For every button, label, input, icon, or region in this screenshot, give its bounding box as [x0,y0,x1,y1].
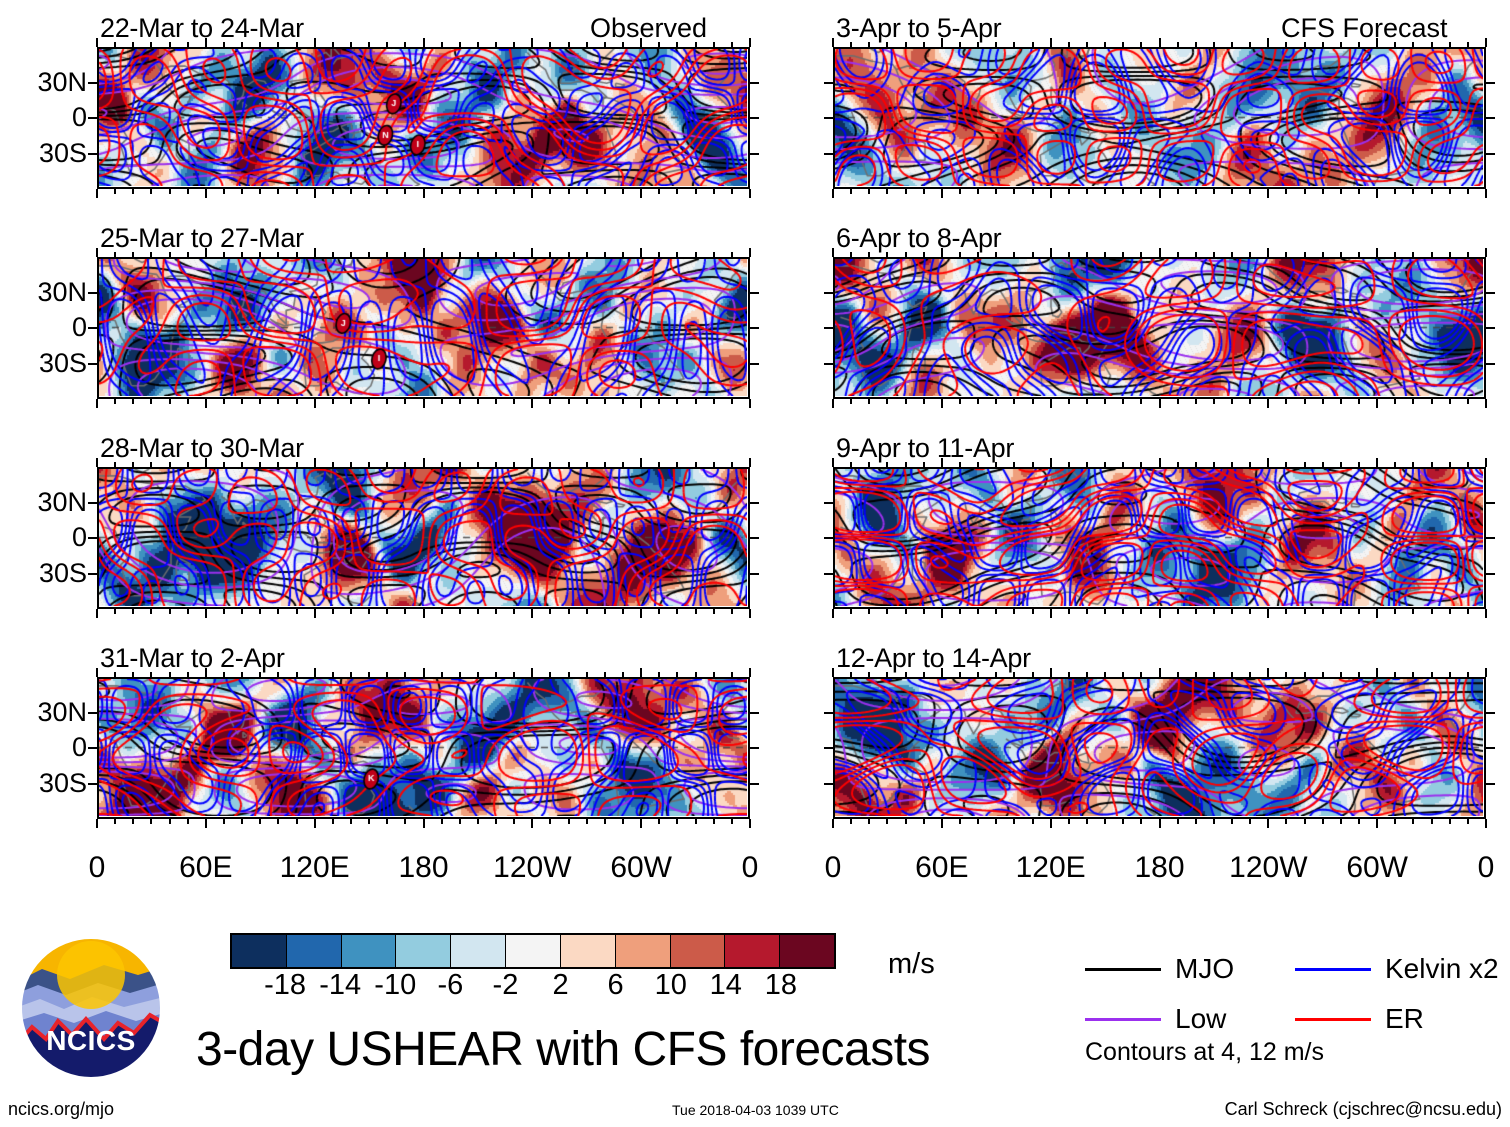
axis-tick [850,819,852,824]
axis-tick [169,819,171,824]
axis-tick [404,462,406,467]
axis-tick [350,399,352,404]
axis-tick [640,819,642,828]
axis-tick [1249,462,1251,467]
axis-tick [977,462,979,467]
axis-tick [1485,668,1487,677]
axis-tick [832,668,834,677]
axis-tick [1140,189,1142,194]
x-axis-label-right-2: 120E [991,853,1111,883]
axis-tick [368,672,370,677]
axis-tick [296,672,298,677]
axis-tick [350,819,352,824]
axis-tick [1376,189,1378,198]
axis-tick [1050,38,1052,47]
axis-tick [88,153,97,155]
axis-tick [1104,819,1106,824]
axis-tick [1267,189,1269,198]
axis-tick [1358,462,1360,467]
colorbar-tick-7: 10 [655,971,687,1000]
axis-tick [1304,609,1306,614]
axis-tick [404,189,406,194]
axis-tick [713,609,715,614]
y-axis-label-obs-2-2: 30S [39,350,87,377]
axis-tick [223,609,225,614]
axis-tick [1485,248,1487,257]
axis-tick [1486,783,1495,785]
axis-tick [923,42,925,47]
axis-tick [132,672,134,677]
axis-tick [886,462,888,467]
axis-tick [1032,609,1034,614]
axis-tick [314,189,316,198]
axis-tick [941,399,943,408]
axis-tick [832,399,834,408]
axis-tick [1486,117,1495,119]
axis-tick [223,189,225,194]
axis-tick [1122,819,1124,824]
axis-tick [277,42,279,47]
axis-tick [1285,819,1287,824]
axis-tick [832,458,834,467]
axis-tick [586,252,588,257]
axis-tick [1431,609,1433,614]
axis-tick [750,363,759,365]
axis-tick [96,248,98,257]
axis-tick [1267,458,1269,467]
axis-tick [114,399,116,404]
axis-tick [1449,462,1451,467]
axis-tick [1431,189,1433,194]
colorbar-tick-2: -10 [374,971,416,1000]
axis-tick [1431,672,1433,677]
axis-tick [1486,82,1495,84]
axis-tick [1285,672,1287,677]
axis-tick [1358,189,1360,194]
axis-tick [586,672,588,677]
axis-tick [114,42,116,47]
axis-tick [905,399,907,404]
axis-tick [1231,189,1233,194]
axis-tick [749,609,751,618]
axis-tick [1177,252,1179,257]
axis-tick [386,42,388,47]
axis-tick [114,609,116,614]
map-canvas-obs-4 [97,677,750,819]
axis-tick [1340,399,1342,404]
axis-tick [549,609,551,614]
axis-tick [1195,462,1197,467]
axis-tick [1013,189,1015,194]
y-axis-label-obs-1-0: 30N [37,69,87,96]
axis-tick [676,672,678,677]
axis-tick [1032,462,1034,467]
axis-tick [832,819,834,828]
axis-tick [169,672,171,677]
y-axis-label-obs-4-0: 30N [37,699,87,726]
axis-tick [1486,502,1495,504]
axis-tick [658,252,660,257]
axis-tick [513,252,515,257]
legend-label-kelvin: Kelvin x2 [1385,955,1499,983]
axis-tick [169,42,171,47]
axis-tick [1340,42,1342,47]
axis-tick [531,248,533,257]
axis-tick [1267,609,1269,618]
x-axis-label-left-2: 120E [255,853,375,883]
colorbar-swatch-9 [725,935,780,967]
colorbar: -18-14-10-6-226101418 [230,933,836,1003]
axis-tick [386,462,388,467]
axis-tick [205,248,207,257]
axis-tick [114,189,116,194]
axis-tick [205,668,207,677]
axis-tick [640,458,642,467]
axis-tick [150,672,152,677]
axis-tick [1013,609,1015,614]
axis-tick [241,189,243,194]
axis-tick [1322,42,1324,47]
axis-tick [1231,462,1233,467]
axis-tick [1177,672,1179,677]
y-axis-label-obs-2-1: 0 [72,314,87,341]
axis-tick [1177,189,1179,194]
axis-tick [750,292,759,294]
axis-tick [1159,399,1161,408]
axis-tick [423,819,425,828]
axis-tick [1340,252,1342,257]
axis-tick [404,399,406,404]
axis-tick [150,399,152,404]
axis-tick [459,462,461,467]
axis-tick [1285,462,1287,467]
axis-tick [824,783,833,785]
axis-tick [749,248,751,257]
axis-tick [1267,38,1269,47]
axis-tick [731,672,733,677]
axis-tick [441,609,443,614]
axis-tick [1195,672,1197,677]
axis-tick [1376,38,1378,47]
axis-tick [1485,819,1487,828]
axis-tick [568,672,570,677]
axis-tick [977,672,979,677]
axis-tick [959,672,961,677]
legend-item-low: Low [1085,1005,1295,1033]
legend-line-mjo [1085,968,1161,971]
axis-tick [169,189,171,194]
axis-tick [941,609,943,618]
axis-tick [1249,189,1251,194]
axis-tick [568,42,570,47]
axis-tick [1340,462,1342,467]
axis-tick [1412,819,1414,824]
axis-tick [1068,819,1070,824]
axis-tick [1249,609,1251,614]
axis-tick [905,609,907,614]
axis-tick [88,537,97,539]
axis-tick [1449,252,1451,257]
axis-tick [132,399,134,404]
axis-tick [658,189,660,194]
axis-tick [423,248,425,257]
axis-tick [88,573,97,575]
axis-tick [259,462,261,467]
map-canvas-fcs-1 [833,47,1486,189]
axis-tick [495,399,497,404]
axis-tick [1068,462,1070,467]
axis-tick [1013,252,1015,257]
axis-tick [1231,399,1233,404]
axis-tick [1358,252,1360,257]
colorbar-swatch-3 [396,935,451,967]
axis-tick [386,672,388,677]
axis-tick [423,458,425,467]
axis-tick [1068,399,1070,404]
axis-tick [731,42,733,47]
axis-tick [386,609,388,614]
axis-tick [441,462,443,467]
colorbar-tick-8: 14 [710,971,742,1000]
axis-tick [423,189,425,198]
axis-tick [277,819,279,824]
axis-tick [1140,42,1142,47]
axis-tick [423,668,425,677]
axis-tick [1068,609,1070,614]
axis-tick [1267,399,1269,408]
axis-tick [477,399,479,404]
map-canvas-obs-3 [97,467,750,609]
axis-tick [1485,399,1487,408]
axis-tick [640,189,642,198]
axis-tick [868,462,870,467]
y-axis-label-obs-1-1: 0 [72,104,87,131]
axis-tick [923,189,925,194]
axis-tick [223,462,225,467]
axis-tick [441,252,443,257]
axis-tick [676,819,678,824]
axis-tick [1304,399,1306,404]
axis-tick [259,819,261,824]
axis-tick [1231,609,1233,614]
axis-tick [1086,399,1088,404]
axis-tick [886,819,888,824]
y-axis-label-obs-2-0: 30N [37,279,87,306]
axis-tick [832,609,834,618]
axis-tick [676,399,678,404]
axis-tick [1177,819,1179,824]
axis-tick [824,292,833,294]
legend-row-1: MJO Kelvin x2 [1085,955,1505,983]
axis-tick [169,609,171,614]
axis-tick [850,42,852,47]
axis-tick [586,609,588,614]
axis-tick [1122,189,1124,194]
axis-tick [604,819,606,824]
panel-title-obs-1: 22-Mar to 24-Mar [100,15,304,42]
axis-tick [1304,819,1306,824]
axis-tick [959,819,961,824]
panel-title-fcs-4: 12-Apr to 14-Apr [836,645,1031,672]
axis-tick [223,672,225,677]
axis-tick [586,462,588,467]
axis-tick [1086,672,1088,677]
axis-tick [1467,672,1469,677]
axis-tick [1159,668,1161,677]
axis-tick [1340,819,1342,824]
axis-tick [695,672,697,677]
colorbar-tick-labels: -18-14-10-6-226101418 [230,969,836,1003]
axis-tick [1486,537,1495,539]
axis-tick [1322,462,1324,467]
axis-tick [750,117,759,119]
axis-tick [1068,252,1070,257]
axis-tick [1086,189,1088,194]
axis-tick [1358,42,1360,47]
axis-tick [314,609,316,618]
axis-tick [531,458,533,467]
colorbar-swatches [230,933,836,969]
axis-tick [713,819,715,824]
axis-tick [1285,609,1287,614]
axis-tick [1304,189,1306,194]
axis-tick [1104,672,1106,677]
panel-title-fcs-2: 6-Apr to 8-Apr [836,225,1001,252]
axis-tick [423,399,425,408]
axis-tick [824,82,833,84]
axis-tick [549,462,551,467]
axis-tick [695,399,697,404]
axis-tick [1394,399,1396,404]
axis-tick [187,42,189,47]
panel-corner-label-obs-1: Observed [590,15,707,42]
axis-tick [1032,189,1034,194]
axis-tick [923,819,925,824]
axis-tick [1249,252,1251,257]
axis-tick [568,399,570,404]
axis-tick [1358,819,1360,824]
colorbar-swatch-4 [451,935,506,967]
y-axis-label-obs-1-2: 30S [39,140,87,167]
axis-tick [549,819,551,824]
axis-tick [1013,462,1015,467]
axis-tick [850,189,852,194]
axis-tick [531,189,533,198]
axis-tick [868,189,870,194]
footer-author: Carl Schreck (cjschrec@ncsu.edu) [1225,1100,1502,1118]
axis-tick [1449,42,1451,47]
axis-tick [150,819,152,824]
axis-tick [676,189,678,194]
axis-tick [1467,462,1469,467]
axis-tick [995,399,997,404]
axis-tick [404,42,406,47]
colorbar-swatch-8 [671,935,726,967]
x-axis-label-left-5: 60W [581,853,701,883]
axis-tick [459,819,461,824]
axis-tick [832,248,834,257]
axis-tick [750,783,759,785]
axis-tick [713,399,715,404]
axis-tick [259,42,261,47]
axis-tick [441,42,443,47]
axis-tick [314,38,316,47]
axis-tick [223,819,225,824]
footer-website[interactable]: ncics.org/mjo [8,1100,114,1118]
axis-tick [423,609,425,618]
axis-tick [995,252,997,257]
axis-tick [824,117,833,119]
y-axis-label-obs-4-1: 0 [72,734,87,761]
axis-tick [241,252,243,257]
axis-tick [886,672,888,677]
axis-tick [495,819,497,824]
axis-tick [1086,609,1088,614]
axis-tick [386,399,388,404]
axis-tick [549,252,551,257]
axis-tick [314,668,316,677]
axis-tick [350,252,352,257]
axis-tick [941,668,943,677]
axis-tick [1267,668,1269,677]
axis-tick [1431,399,1433,404]
axis-tick [332,189,334,194]
axis-tick [1249,672,1251,677]
axis-tick [96,458,98,467]
axis-tick [513,462,515,467]
axis-tick [731,252,733,257]
axis-tick [96,609,98,618]
axis-tick [568,462,570,467]
axis-tick [695,42,697,47]
axis-tick [1159,248,1161,257]
axis-tick [1213,252,1215,257]
axis-tick [187,819,189,824]
axis-tick [731,819,733,824]
panel-title-obs-2: 25-Mar to 27-Mar [100,225,304,252]
axis-tick [1122,462,1124,467]
axis-tick [750,573,759,575]
axis-tick [658,672,660,677]
axis-tick [731,609,733,614]
axis-tick [441,399,443,404]
axis-tick [386,252,388,257]
axis-tick [150,189,152,194]
axis-tick [1394,252,1396,257]
axis-tick [96,399,98,408]
axis-tick [1304,252,1306,257]
axis-tick [749,399,751,408]
axis-tick [1177,42,1179,47]
contour-note: Contours at 4, 12 m/s [1085,1040,1324,1065]
axis-tick [1032,819,1034,824]
axis-tick [1159,458,1161,467]
axis-tick [1304,42,1306,47]
axis-tick [1394,609,1396,614]
axis-tick [695,462,697,467]
axis-tick [1267,819,1269,828]
axis-tick [549,42,551,47]
axis-tick [513,399,515,404]
axis-tick [350,462,352,467]
axis-tick [1412,462,1414,467]
axis-tick [868,42,870,47]
axis-tick [1104,189,1106,194]
legend-line-low [1085,1018,1161,1021]
axis-tick [1358,672,1360,677]
axis-tick [750,502,759,504]
axis-tick [96,668,98,677]
